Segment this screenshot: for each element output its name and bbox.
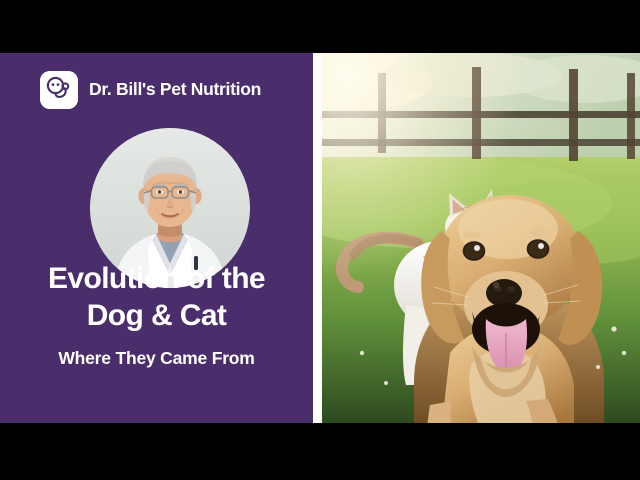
video-thumbnail: Dr. Bill's Pet Nutrition [0, 0, 640, 480]
page-title-line-1: Evolution of the [0, 260, 313, 297]
brand-lockup: Dr. Bill's Pet Nutrition [40, 71, 261, 109]
thumbnail-content-band: Dr. Bill's Pet Nutrition [0, 53, 640, 423]
letterbox-bar-bottom [0, 423, 640, 480]
headline-block: Evolution of the Dog & Cat Where They Ca… [0, 260, 313, 369]
page-subtitle: Where They Came From [0, 347, 313, 369]
brand-panel: Dr. Bill's Pet Nutrition [0, 53, 313, 423]
page-title-line-2: Dog & Cat [0, 297, 313, 334]
stethoscope-face-icon [40, 71, 78, 109]
panel-divider [313, 53, 322, 423]
hero-photo [322, 53, 640, 423]
brand-name: Dr. Bill's Pet Nutrition [89, 81, 261, 99]
letterbox-bar-top [0, 0, 640, 53]
